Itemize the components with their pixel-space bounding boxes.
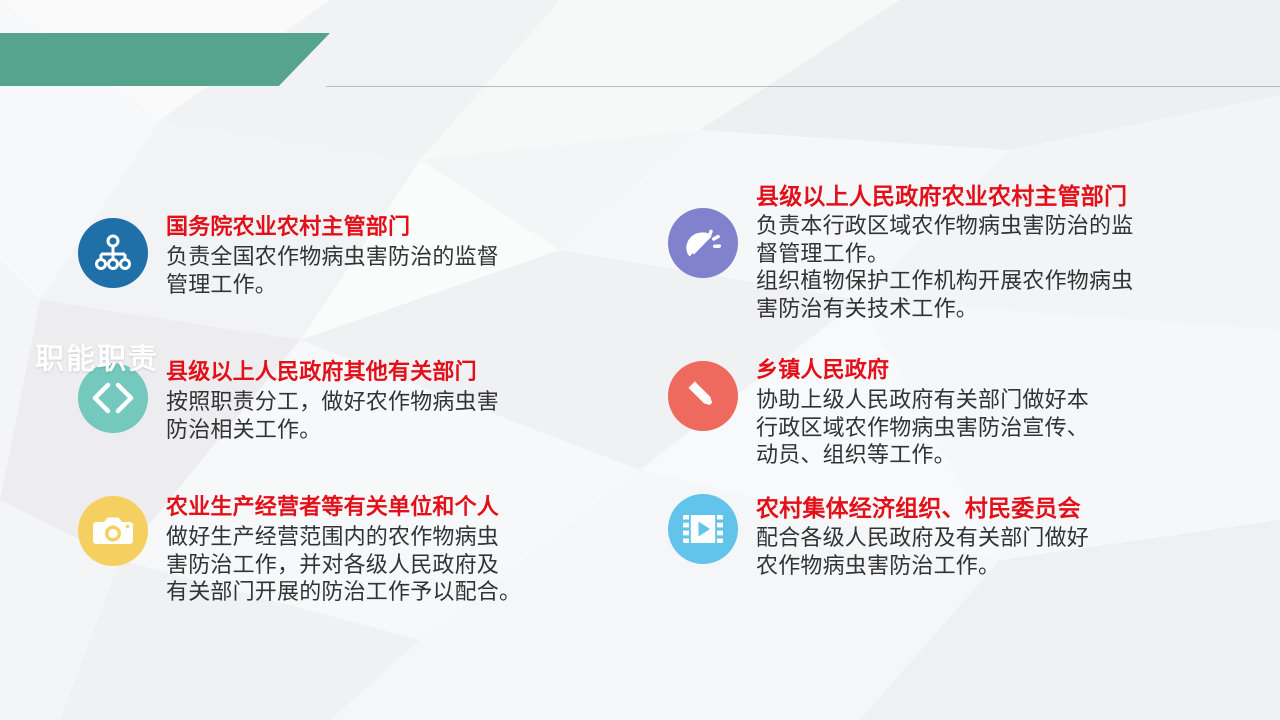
item-text-block: 县级以上人民政府农业农村主管部门 负责本行政区域农作物病虫害防治的监 督管理工作…: [756, 180, 1133, 323]
item-body: 按照职责分工，做好农作物病虫害 防治相关工作。: [166, 388, 499, 443]
item-text-block: 农村集体经济组织、村民委员会 配合各级人民政府及有关部门做好 农作物病虫害防治工…: [756, 492, 1089, 579]
responsibility-item[interactable]: 农业生产经营者等有关单位和个人 做好生产经营范围内的农作物病虫 害防治工作，并对…: [78, 492, 521, 606]
item-body: 负责本行政区域农作物病虫害防治的监 督管理工作。 组织植物保护工作机构开展农作物…: [756, 212, 1133, 323]
item-title: 国务院农业农村主管部门: [166, 214, 499, 241]
page-title: 职能职责: [35, 346, 159, 375]
responsibility-item[interactable]: 国务院农业农村主管部门 负责全国农作物病虫害防治的监督 管理工作。: [78, 212, 499, 298]
item-title: 农业生产经营者等有关单位和个人: [166, 494, 521, 521]
item-body: 做好生产经营范围内的农作物病虫 害防治工作，并对各级人民政府及 有关部门开展的防…: [166, 523, 521, 606]
header-banner: [0, 33, 330, 86]
responsibility-item[interactable]: 县级以上人民政府农业农村主管部门 负责本行政区域农作物病虫害防治的监 督管理工作…: [668, 180, 1133, 323]
item-text-block: 县级以上人民政府其他有关部门 按照职责分工，做好农作物病虫害 防治相关工作。: [166, 357, 499, 443]
org-chart-icon: [78, 218, 148, 288]
item-title: 乡镇人民政府: [756, 357, 1089, 384]
item-text-block: 国务院农业农村主管部门 负责全国农作物病虫害防治的监督 管理工作。: [166, 212, 499, 298]
item-title: 县级以上人民政府其他有关部门: [166, 359, 499, 386]
pencil-icon: [668, 361, 738, 431]
item-text-block: 农业生产经营者等有关单位和个人 做好生产经营范围内的农作物病虫 害防治工作，并对…: [166, 492, 521, 606]
content-columns: 国务院农业农村主管部门 负责全国农作物病虫害防治的监督 管理工作。 县级以上人民…: [0, 0, 1280, 720]
tap-gesture-icon: [668, 208, 738, 278]
header-banner-shape: [0, 33, 330, 86]
item-body: 协助上级人民政府有关部门做好本 行政区域农作物病虫害防治宣传、 动员、组织等工作…: [756, 386, 1089, 469]
film-play-icon: [668, 494, 738, 564]
slide-canvas: 职能职责: [0, 0, 1280, 720]
camera-icon: [78, 496, 148, 566]
responsibility-item[interactable]: 乡镇人民政府 协助上级人民政府有关部门做好本 行政区域农作物病虫害防治宣传、 动…: [668, 355, 1089, 469]
responsibility-item[interactable]: 农村集体经济组织、村民委员会 配合各级人民政府及有关部门做好 农作物病虫害防治工…: [668, 492, 1089, 579]
item-title: 县级以上人民政府农业农村主管部门: [756, 182, 1133, 210]
right-column: 县级以上人民政府农业农村主管部门 负责本行政区域农作物病虫害防治的监 督管理工作…: [668, 0, 1238, 720]
item-body: 负责全国农作物病虫害防治的监督 管理工作。: [166, 243, 499, 298]
item-title: 农村集体经济组织、村民委员会: [756, 494, 1089, 522]
item-text-block: 乡镇人民政府 协助上级人民政府有关部门做好本 行政区域农作物病虫害防治宣传、 动…: [756, 355, 1089, 469]
item-body: 配合各级人民政府及有关部门做好 农作物病虫害防治工作。: [756, 524, 1089, 579]
